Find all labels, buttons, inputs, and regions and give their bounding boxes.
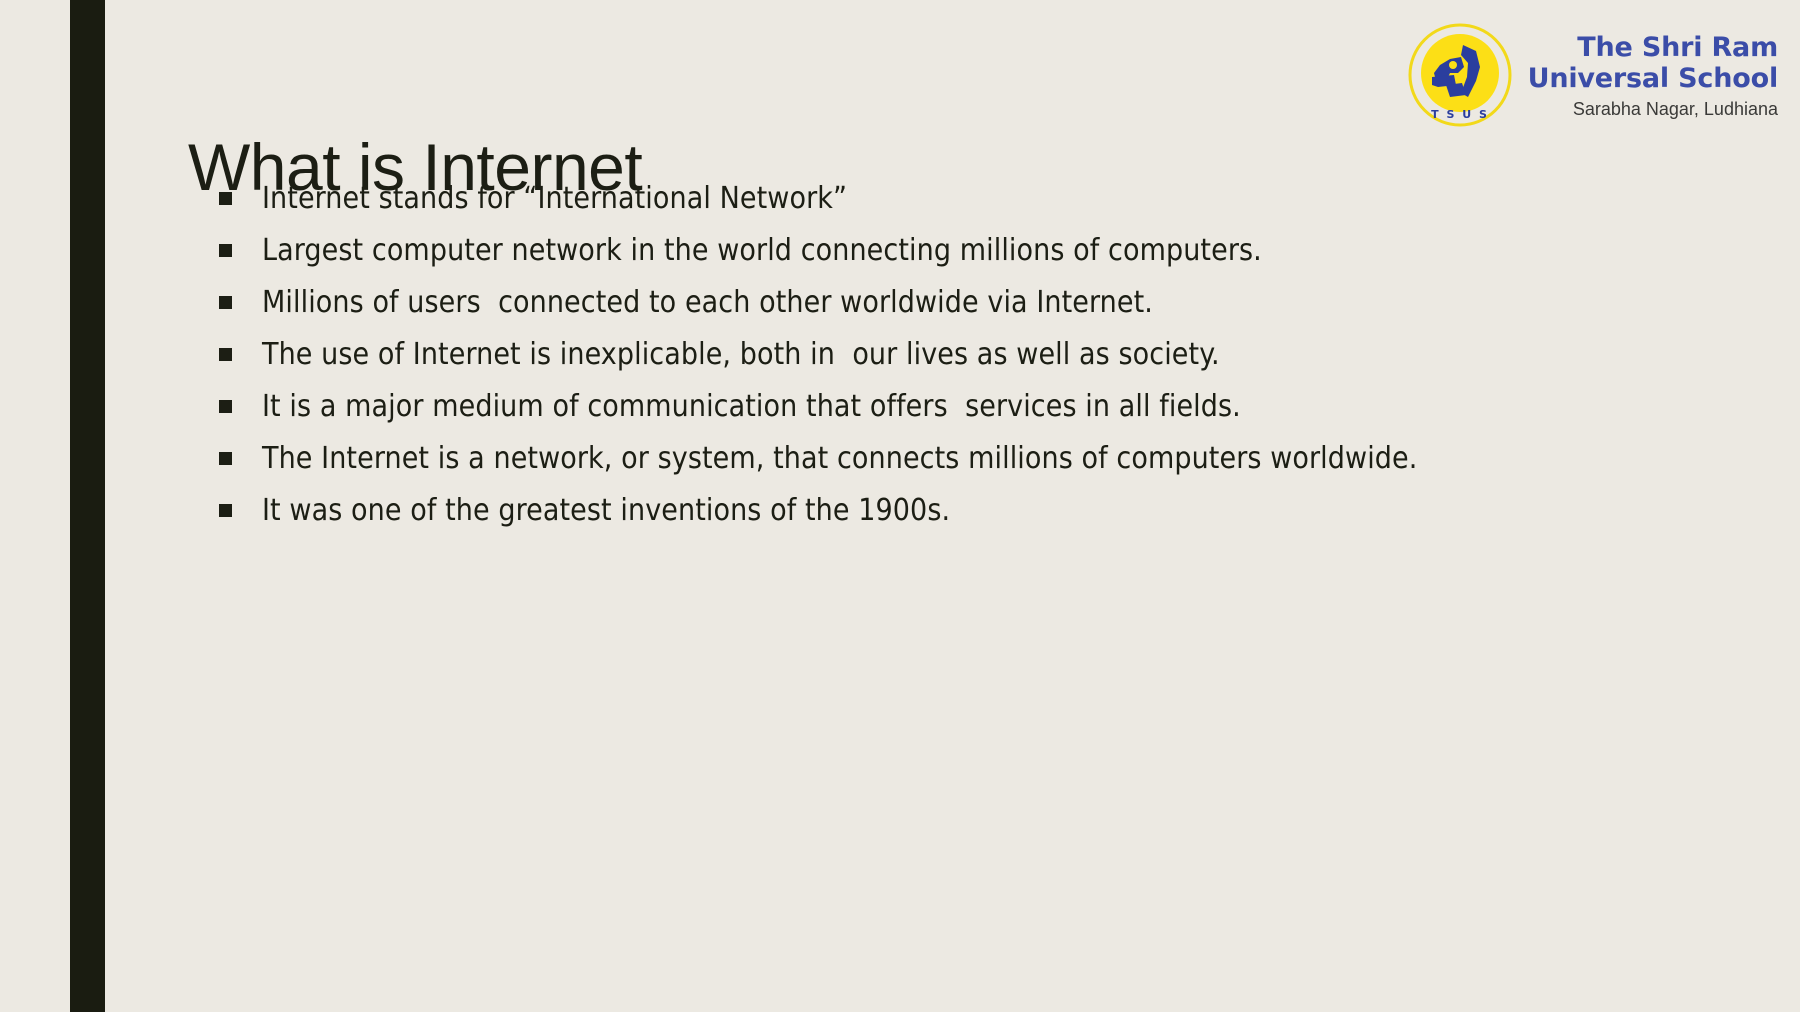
- presentation-slide: T S U S The Shri Ram Universal School Sa…: [0, 0, 1800, 1012]
- school-name-line1: The Shri Ram: [1528, 32, 1778, 63]
- bullet-list: Internet stands for “International Netwo…: [190, 176, 1530, 540]
- svg-text:T S U S: T S U S: [1431, 108, 1489, 121]
- list-item-text: The use of Internet is inexplicable, bot…: [262, 332, 1220, 378]
- list-item: Largest computer network in the world co…: [190, 228, 1530, 280]
- school-name-line2: Universal School: [1528, 63, 1778, 94]
- school-logo-block: T S U S The Shri Ram Universal School Sa…: [1406, 18, 1778, 129]
- square-bullet-icon: [219, 504, 232, 517]
- list-item-text: Internet stands for “International Netwo…: [262, 176, 847, 222]
- list-item: The Internet is a network, or system, th…: [190, 436, 1530, 488]
- list-item: It is a major medium of communication th…: [190, 384, 1530, 436]
- school-name-text: The Shri Ram Universal School Sarabha Na…: [1528, 18, 1778, 121]
- square-bullet-icon: [219, 400, 232, 413]
- square-bullet-icon: [219, 244, 232, 257]
- list-item: Internet stands for “International Netwo…: [190, 176, 1530, 228]
- list-item: Millions of users connected to each othe…: [190, 280, 1530, 332]
- list-item: The use of Internet is inexplicable, bot…: [190, 332, 1530, 384]
- list-item-text: It was one of the greatest inventions of…: [262, 488, 950, 534]
- square-bullet-icon: [219, 348, 232, 361]
- square-bullet-icon: [219, 296, 232, 309]
- list-item-text: The Internet is a network, or system, th…: [262, 436, 1417, 482]
- left-accent-bar: [70, 0, 105, 1012]
- list-item-text: Millions of users connected to each othe…: [262, 280, 1153, 326]
- list-item: It was one of the greatest inventions of…: [190, 488, 1530, 540]
- school-location: Sarabha Nagar, Ludhiana: [1528, 97, 1778, 121]
- list-item-text: It is a major medium of communication th…: [262, 384, 1241, 430]
- tsus-logo-icon: T S U S: [1406, 21, 1514, 129]
- square-bullet-icon: [219, 192, 232, 205]
- square-bullet-icon: [219, 452, 232, 465]
- list-item-text: Largest computer network in the world co…: [262, 228, 1262, 274]
